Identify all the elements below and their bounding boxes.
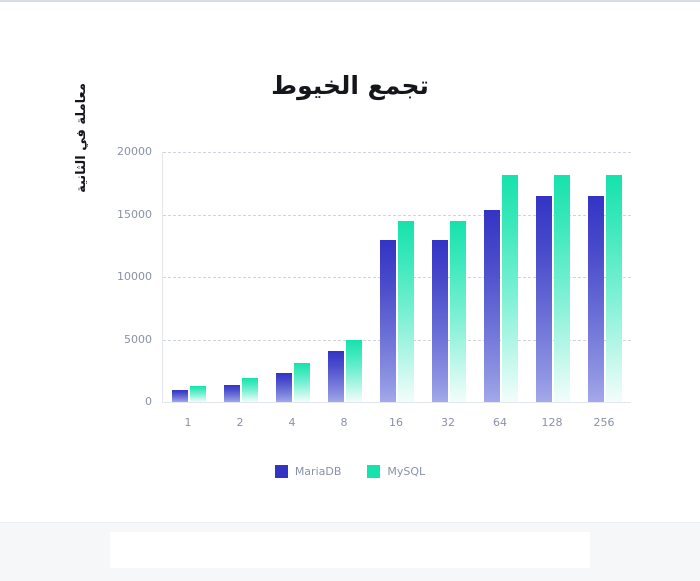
bar-mariadb[interactable] [484,210,500,402]
bar-group [224,152,258,402]
x-axis-tick: 1 [168,416,208,429]
bar-mariadb[interactable] [432,240,448,402]
bar-mysql[interactable] [242,378,258,402]
bar-mariadb[interactable] [276,373,292,402]
bar-mysql[interactable] [398,221,414,402]
bar-group [536,152,570,402]
bar-mysql[interactable] [502,175,518,403]
bar-mysql[interactable] [346,340,362,402]
y-axis-tick: 20000 [96,145,152,158]
bar-group [484,152,518,402]
x-axis-tick: 4 [272,416,312,429]
bar-group [432,152,466,402]
legend-label: MySQL [387,465,425,478]
bar-group [380,152,414,402]
y-axis-tick: 10000 [96,270,152,283]
bar-group [328,152,362,402]
bar-mariadb[interactable] [588,196,604,402]
x-axis-tick: 128 [532,416,572,429]
legend-mysql[interactable]: MySQL [367,465,425,478]
bar-group [172,152,206,402]
x-axis-tick: 64 [480,416,520,429]
bar-chart: معاملة في الثانية 05000100001500020000 1… [0,2,700,502]
x-axis-tick: 256 [584,416,624,429]
plot-area [162,152,631,403]
y-axis-title: معاملة في الثانية [74,48,92,228]
legend-swatch-icon [367,465,380,478]
bar-mysql[interactable] [606,175,622,403]
bar-group [276,152,310,402]
chart-page: تجمع الخيوط معاملة في الثانية 0500010000… [0,0,700,579]
y-axis-tick: 5000 [96,333,152,346]
bar-mariadb[interactable] [328,351,344,402]
bar-mariadb[interactable] [224,385,240,403]
chart-legend: MariaDBMySQL [0,465,700,478]
bar-mysql[interactable] [450,221,466,402]
x-axis-tick: 16 [376,416,416,429]
bar-mariadb[interactable] [380,240,396,402]
footer-panel [110,532,590,568]
bar-mysql[interactable] [554,175,570,403]
x-axis-tick: 8 [324,416,364,429]
legend-label: MariaDB [295,465,342,478]
bar-mariadb[interactable] [536,196,552,402]
x-axis-tick: 32 [428,416,468,429]
bar-group [588,152,622,402]
x-axis-tick: 2 [220,416,260,429]
bar-mariadb[interactable] [172,390,188,402]
bar-mysql[interactable] [190,386,206,402]
legend-mariadb[interactable]: MariaDB [275,465,342,478]
legend-swatch-icon [275,465,288,478]
y-axis-tick: 0 [96,395,152,408]
bar-mysql[interactable] [294,363,310,402]
y-axis-tick: 15000 [96,208,152,221]
